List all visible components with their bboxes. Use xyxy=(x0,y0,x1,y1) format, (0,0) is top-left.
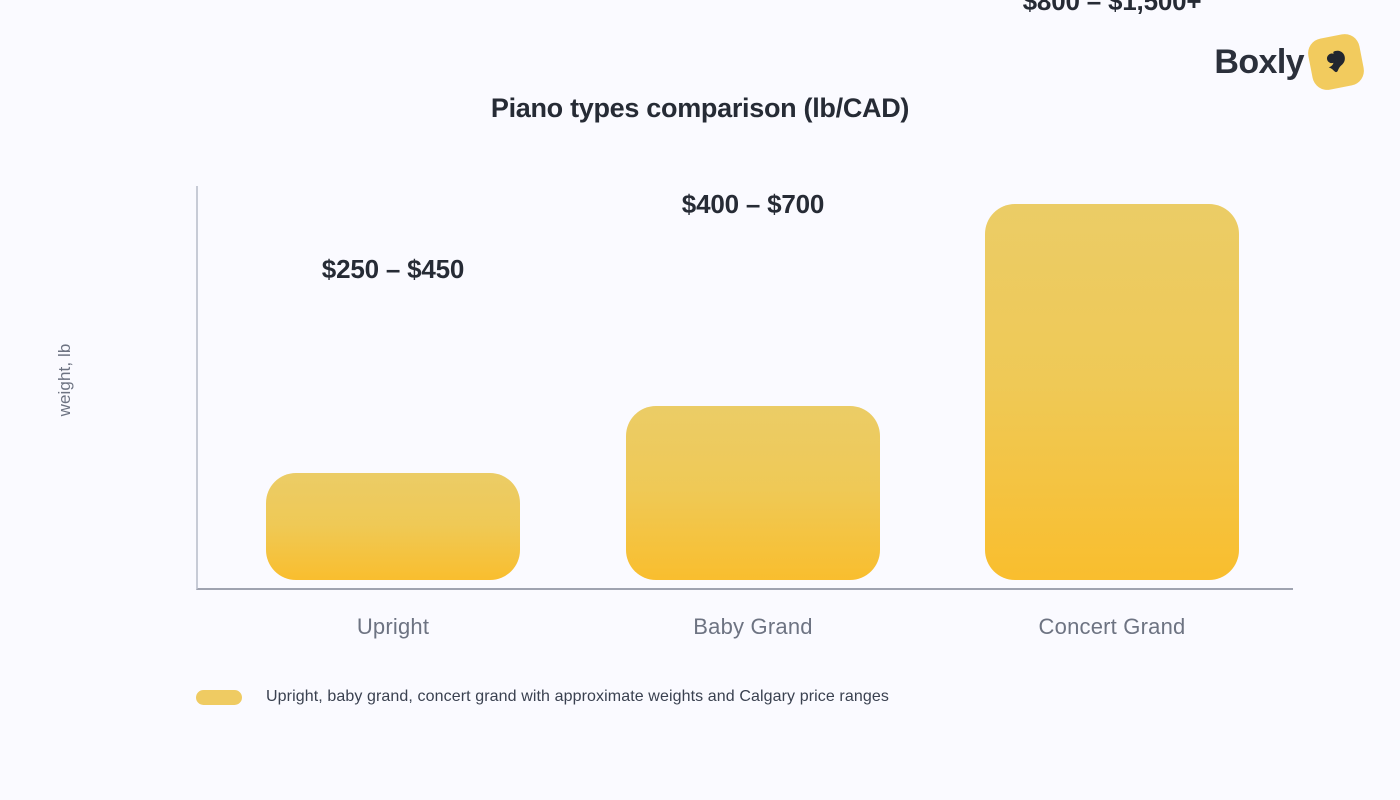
chart-title: Piano types comparison (lb/CAD) xyxy=(0,93,1400,124)
x-tick-label-upright: Upright xyxy=(357,614,429,640)
brand-logo[interactable]: Boxly xyxy=(1214,36,1362,88)
bar-series: $250 – $450 Upright $400 – $700 Baby Gra… xyxy=(196,186,1293,588)
bar-value-label: $400 – $700 xyxy=(682,189,824,220)
bar-value-label: $800 – $1,500+ xyxy=(1023,0,1202,17)
x-tick-label-concert-grand: Concert Grand xyxy=(1039,614,1186,640)
chart-legend: Upright, baby grand, concert grand with … xyxy=(196,688,889,706)
bar-group-baby-grand[interactable]: $400 – $700 Baby Grand xyxy=(626,186,880,588)
bar-upright[interactable] xyxy=(266,473,520,580)
bar-group-concert-grand[interactable]: $800 – $1,500+ Concert Grand xyxy=(985,186,1239,588)
boxly-logo-icon xyxy=(1306,32,1367,93)
y-axis-ticks: 1200 1000 800 600 400 200 xyxy=(0,0,160,800)
legend-swatch xyxy=(196,690,242,705)
legend-label: Upright, baby grand, concert grand with … xyxy=(266,688,889,706)
bar-value-label: $250 – $450 xyxy=(322,254,464,285)
brand-name: Boxly xyxy=(1214,45,1304,79)
bar-concert-grand[interactable] xyxy=(985,204,1239,580)
bar-baby-grand[interactable] xyxy=(626,406,880,580)
bar-group-upright[interactable]: $250 – $450 Upright xyxy=(266,186,520,588)
x-tick-label-baby-grand: Baby Grand xyxy=(693,614,812,640)
